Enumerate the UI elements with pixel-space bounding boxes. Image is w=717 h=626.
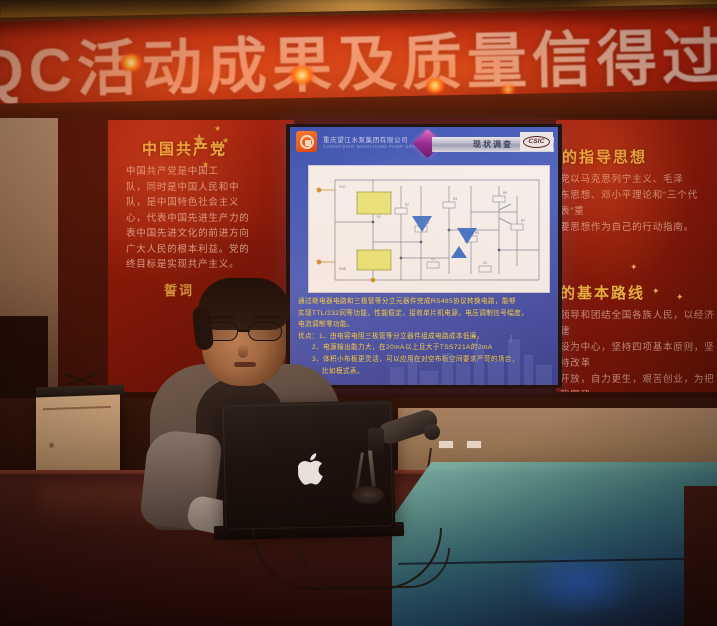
slide-company-name: 重庆望江水泵集团有限公司 [323,134,408,144]
svg-text:VCC: VCC [339,185,346,189]
svg-text:R5: R5 [475,231,479,235]
presenter-eyebrow [208,316,234,319]
eyeglass-lens [204,322,238,341]
svg-text:C2: C2 [483,261,487,265]
flag-star-icon: ★ [216,150,223,159]
wall-panel-right: 的指导思想 党以马克思列宁主义、毛泽 东思想、邓小平理论和“三个代表”重 要思想… [556,120,717,392]
svg-text:R6: R6 [503,191,507,195]
sparkle-icon: ✦ [630,262,636,268]
sparkle-icon: ✦ [676,292,682,298]
presenter-nose [238,344,248,358]
podium-seam [43,406,111,410]
svg-text:R7: R7 [521,219,525,223]
banner-lamp-1 [118,54,144,71]
svg-text:C1: C1 [431,257,435,261]
presenter-eyebrow [254,316,280,319]
csic-logo: CSIC [520,132,553,151]
slide-header: 重庆望江水泵集团有限公司 CHONGQING WANGJIANG PUMP GR… [290,127,558,161]
banner-lamp-3 [424,78,446,93]
chinese-flag-graphic [108,120,294,240]
apple-logo-icon [298,452,329,487]
eyeglass-temple [198,329,208,331]
wall-panel-right-body2: 领导和团结全国各族人民，以经济建 设为中心，坚持四项基本原则，坚持改革 开放，自… [560,308,717,392]
room-photo-scene: QC活动成果及质量信得过班组 ★ ★ ★ ★ ★ 中国共产党 中国共产党是中国工… [0,0,717,626]
microphone-capsule [424,424,440,440]
svg-text:R1: R1 [377,215,381,219]
flag-star-icon: ★ [214,124,221,133]
csic-logo-text: CSIC [523,136,550,148]
company-emblem-icon [296,131,317,152]
wall-panel-right-title2: 的基本路线 [560,282,645,303]
podium-knob [49,443,54,448]
svg-text:GND: GND [339,267,347,271]
eyeglass-lens [248,322,282,341]
wall-left-gap [56,118,110,400]
circuit-schematic: VCCR1 R2R3 R4R5 R6R7 GNDC1 C2 [308,165,550,293]
flag-star-icon: ★ [192,130,206,150]
wall-panel-right-title: 的指导思想 [562,146,647,167]
wall-panel-left-body: 中国共产党是中国工 队，同时是中国人民和中 队，是中国特色社会主义 心，代表中国… [126,164,294,273]
microphone-base [352,486,384,504]
wall-outlet [438,440,454,449]
slide-watermark-graphic [386,333,558,385]
flag-star-icon: ★ [222,136,229,145]
slide-title-text: 现状调查 [473,139,513,150]
wall-panel-right-body: 党以马克思列宁主义、毛泽 东思想、邓小平理论和“三个代表”重 要思想作为自己的行… [560,172,717,236]
cable [300,548,450,588]
flag-star-icon: ★ [202,160,209,169]
svg-text:R3: R3 [425,221,429,225]
eyeglass-bridge [238,330,250,332]
wall-panel-left-title: 中国共产党 [142,138,227,159]
presenter-mouth [234,362,256,367]
banner-lamp-2 [288,66,316,84]
svg-text:R2: R2 [405,203,409,207]
svg-text:R4: R4 [453,197,457,201]
eyeglasses-icon [202,322,288,342]
sparkle-icon: ✦ [652,286,658,292]
right-cabinet [684,486,717,626]
wall-outlet [466,440,482,449]
